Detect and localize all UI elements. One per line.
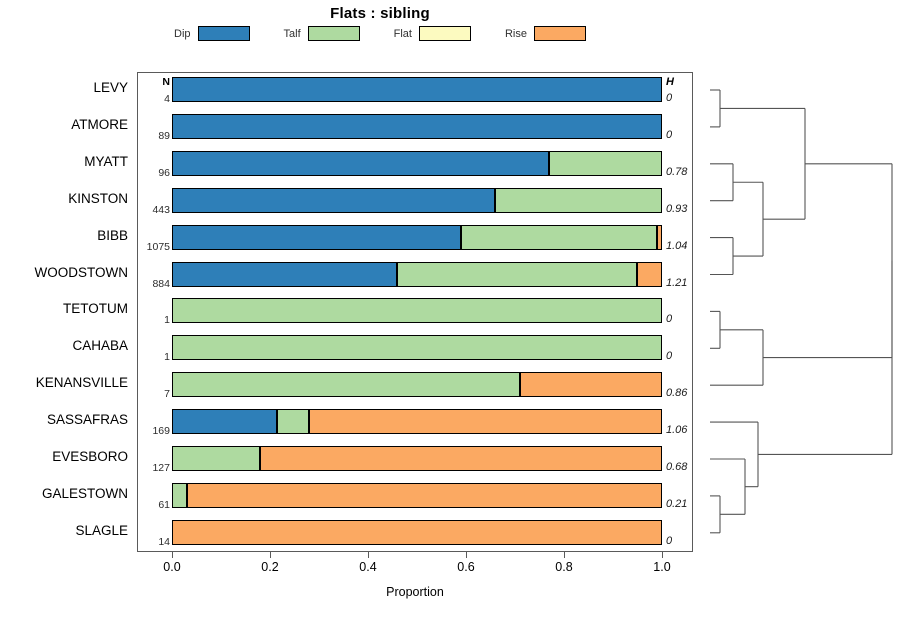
legend-label-talf: Talf [284, 28, 301, 40]
bar-segment-talf [397, 262, 637, 287]
legend-swatch-flat [419, 26, 471, 41]
sample-size-value: 89 [140, 130, 170, 142]
category-label: KENANSVILLE [0, 375, 128, 390]
x-axis-tick-label: 0.4 [348, 560, 388, 574]
bar-segment-talf [277, 409, 309, 434]
x-axis-tick [172, 552, 173, 558]
stacked-bar [172, 151, 662, 176]
bar-segment-rise [637, 262, 662, 287]
legend-item-flat: Flat [394, 26, 471, 41]
bar-segment-talf [172, 372, 520, 397]
bar-segment-rise [309, 409, 662, 434]
x-axis-tick [564, 552, 565, 558]
sample-size-value: 1 [140, 351, 170, 363]
bar-segment-dip [172, 151, 549, 176]
x-axis-tick-label: 0.6 [446, 560, 486, 574]
stacked-bar [172, 372, 662, 397]
legend-swatch-rise [534, 26, 586, 41]
bar-segment-dip [172, 114, 662, 139]
x-axis-tick-label: 0.8 [544, 560, 584, 574]
bar-segment-talf [495, 188, 662, 213]
sample-size-value: 884 [140, 278, 170, 290]
bar-segment-talf [172, 446, 260, 471]
sample-size-value: 4 [140, 93, 170, 105]
category-label: GALESTOWN [0, 486, 128, 501]
sample-size-value: 169 [140, 425, 170, 437]
stacked-bar [172, 77, 662, 102]
bar-segment-dip [172, 262, 397, 287]
category-label: BIBB [0, 228, 128, 243]
chart-title: Flats : sibling [0, 5, 760, 22]
bar-segment-rise [260, 446, 662, 471]
bar-segment-talf [172, 298, 662, 323]
x-axis-tick-label: 0.2 [250, 560, 290, 574]
category-label: TETOTUM [0, 301, 128, 316]
category-label: EVESBORO [0, 449, 128, 464]
bar-segment-dip [172, 409, 277, 434]
bar-segment-rise [172, 520, 662, 545]
stacked-bar [172, 114, 662, 139]
stacked-bar [172, 409, 662, 434]
sample-size-value: 1075 [140, 241, 170, 253]
legend-label-dip: Dip [174, 28, 191, 40]
sample-size-value: 61 [140, 499, 170, 511]
dendrogram [700, 72, 900, 552]
legend-item-rise: Rise [505, 26, 586, 41]
category-label: CAHABA [0, 338, 128, 353]
category-label: SASSAFRAS [0, 412, 128, 427]
sample-size-value: 127 [140, 462, 170, 474]
bar-segment-talf [549, 151, 662, 176]
category-label: LEVY [0, 80, 128, 95]
x-axis-tick [270, 552, 271, 558]
legend-swatch-talf [308, 26, 360, 41]
bar-segment-dip [172, 77, 662, 102]
stacked-bar [172, 298, 662, 323]
bar-segment-dip [172, 188, 495, 213]
x-axis-title: Proportion [137, 585, 693, 599]
x-axis-tick-label: 1.0 [642, 560, 682, 574]
stacked-bar [172, 446, 662, 471]
legend-item-talf: Talf [284, 26, 360, 41]
x-axis-tick-label: 0.0 [152, 560, 192, 574]
sample-size-value: 443 [140, 204, 170, 216]
legend-label-flat: Flat [394, 28, 412, 40]
sample-size-value: 1 [140, 314, 170, 326]
stacked-bar [172, 262, 662, 287]
category-label: KINSTON [0, 191, 128, 206]
bar-segment-talf [172, 335, 662, 360]
bar-segment-rise [657, 225, 662, 250]
legend-swatch-dip [198, 26, 250, 41]
bar-segment-talf [461, 225, 657, 250]
bar-segment-dip [172, 225, 461, 250]
x-axis-tick [662, 552, 663, 558]
stacked-bar [172, 188, 662, 213]
stacked-bar [172, 483, 662, 508]
bar-segment-talf [172, 483, 187, 508]
stacked-bar [172, 335, 662, 360]
x-axis-tick [466, 552, 467, 558]
stacked-bar [172, 520, 662, 545]
category-label: WOODSTOWN [0, 265, 128, 280]
stacked-bar [172, 225, 662, 250]
bar-segment-rise [520, 372, 662, 397]
bar-segment-rise [187, 483, 662, 508]
dendrogram-svg [700, 72, 900, 552]
sample-size-value: 96 [140, 167, 170, 179]
category-label: ATMORE [0, 117, 128, 132]
x-axis-tick [368, 552, 369, 558]
sample-size-value: 14 [140, 536, 170, 548]
legend-item-dip: Dip [174, 26, 250, 41]
category-label: SLAGLE [0, 523, 128, 538]
sample-size-value: 7 [140, 388, 170, 400]
legend: Dip Talf Flat Rise [0, 26, 760, 41]
legend-label-rise: Rise [505, 28, 527, 40]
category-label: MYATT [0, 154, 128, 169]
